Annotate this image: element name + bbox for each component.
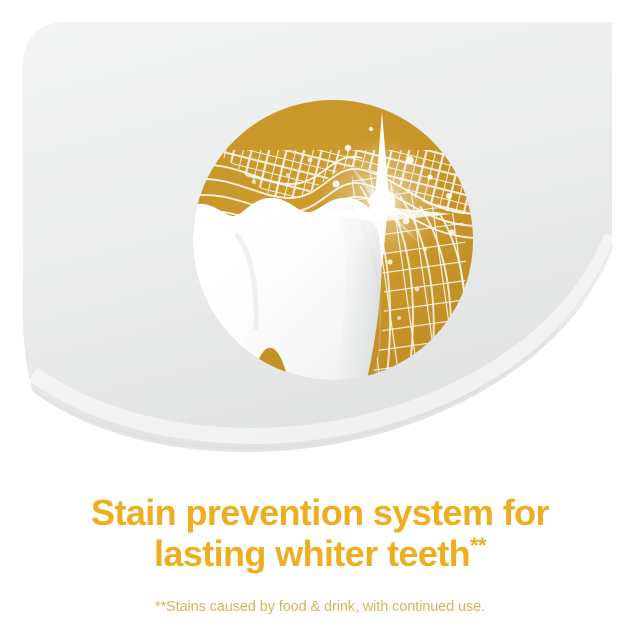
tooth-shield-illustration: Close-up of a white tooth wrapped in a p… bbox=[0, 0, 640, 480]
headline-line-2-text: lasting whiter teeth bbox=[154, 533, 470, 574]
headline: Stain prevention system for lasting whit… bbox=[0, 492, 640, 574]
caption-block: Stain prevention system for lasting whit… bbox=[0, 492, 640, 616]
product-feature-card: Close-up of a white tooth wrapped in a p… bbox=[0, 0, 640, 640]
footnote-disclaimer: **Stains caused by food & drink, with co… bbox=[0, 574, 640, 616]
headline-line-1: Stain prevention system for bbox=[0, 492, 640, 533]
headline-superscript-marker: ** bbox=[470, 533, 486, 558]
headline-line-2: lasting whiter teeth** bbox=[0, 533, 640, 574]
hero-image-panel: Close-up of a white tooth wrapped in a p… bbox=[0, 0, 640, 480]
